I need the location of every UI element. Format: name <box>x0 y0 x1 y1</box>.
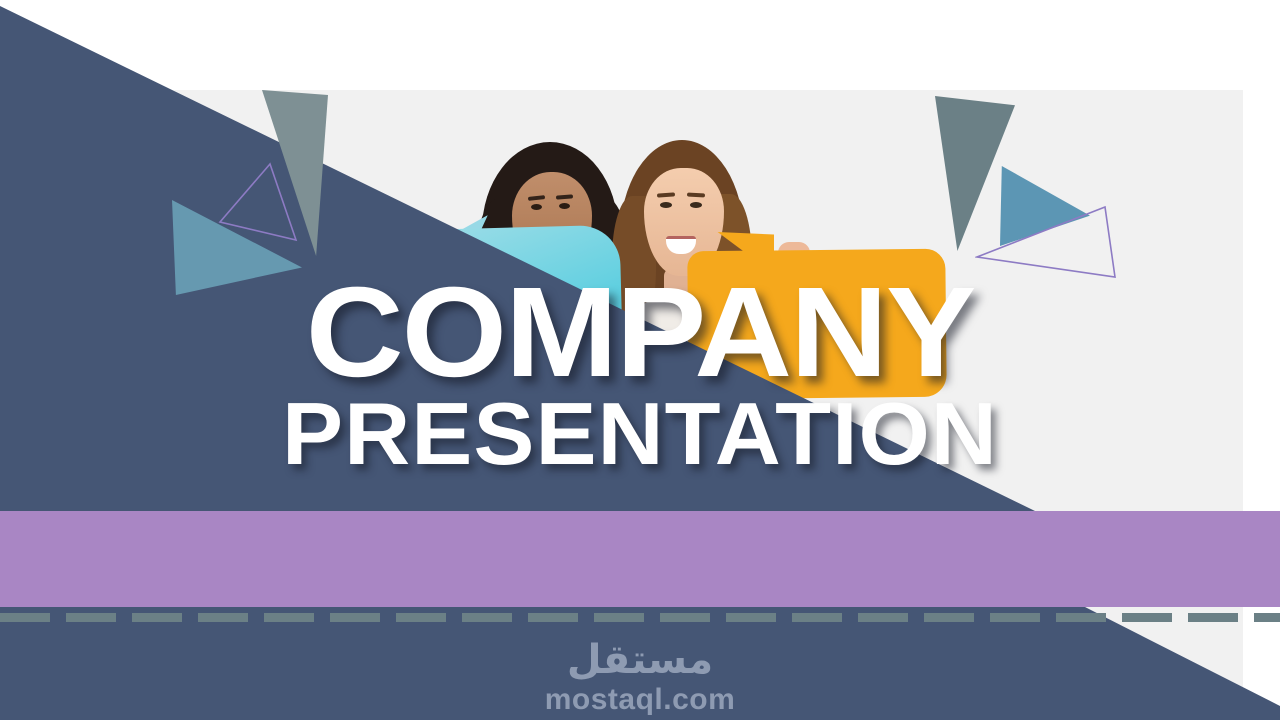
dash-segment <box>660 613 710 622</box>
model-right-eye-right <box>690 202 702 208</box>
purple-accent-band <box>0 511 1280 607</box>
dash-segment <box>1056 613 1106 622</box>
dash-segment <box>858 613 908 622</box>
dash-segment <box>132 613 182 622</box>
model-right-eyebrow-right <box>687 193 705 198</box>
presentation-title-slide: COMPANY PRESENTATION مستقل mostaql.com <box>0 0 1280 720</box>
triangle-left-purple-outline-icon <box>218 162 298 244</box>
dash-segment <box>1122 613 1172 622</box>
dash-segment <box>1188 613 1238 622</box>
dash-segment <box>198 613 248 622</box>
dash-segment <box>594 613 644 622</box>
right-white-margin-top <box>1243 0 1280 511</box>
dash-segment <box>264 613 314 622</box>
dash-segment <box>990 613 1040 622</box>
dash-segment <box>792 613 842 622</box>
model-right-eye-left <box>660 202 672 208</box>
dark-blue-bottom-diagonal-shape <box>0 607 1280 720</box>
dash-segment <box>396 613 446 622</box>
dash-segment <box>528 613 578 622</box>
dash-segment <box>1254 613 1280 622</box>
dash-segment <box>66 613 116 622</box>
model-left-eye-right <box>559 203 570 209</box>
dash-segment <box>462 613 512 622</box>
dashed-divider-line <box>0 613 1280 622</box>
triangle-right-purple-outline-icon <box>975 205 1120 282</box>
model-left-eye-left <box>531 204 542 210</box>
dash-segment <box>924 613 974 622</box>
dash-segment <box>330 613 380 622</box>
dash-segment <box>726 613 776 622</box>
dash-segment <box>0 613 50 622</box>
